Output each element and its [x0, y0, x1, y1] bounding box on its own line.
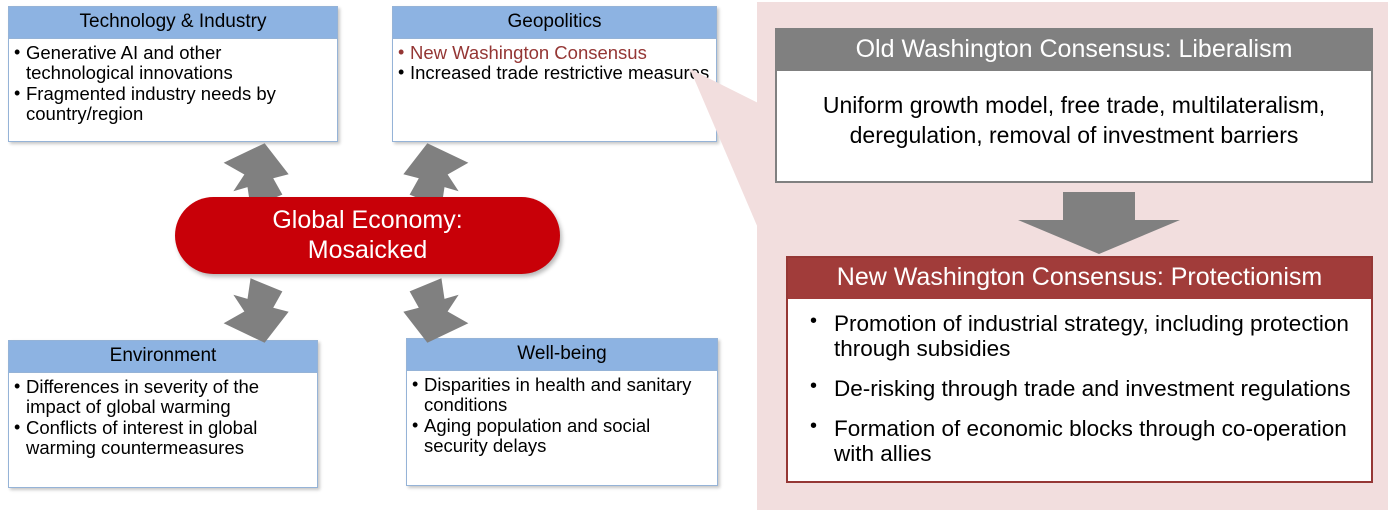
arrow-wellbeing-to-hub-icon [404, 278, 470, 344]
arrow-old-to-new-consensus-icon [1018, 192, 1180, 254]
arrow-environment-to-hub-icon [222, 278, 288, 344]
card-body-well-being: Disparities in health and sanitary condi… [407, 371, 717, 461]
bullet-item: Aging population and social security del… [411, 416, 711, 457]
bullet-list-technology-industry: Generative AI and other technological in… [13, 43, 331, 124]
body-new-washington-consensus: Promotion of industrial strategy, includ… [788, 299, 1371, 479]
bullet-item: Differences in severity of the impact of… [13, 377, 311, 418]
bullet-item: Fragmented industry needs by country/reg… [13, 84, 331, 125]
bullet-list-new-washington-consensus: Promotion of industrial strategy, includ… [804, 311, 1355, 467]
hub-global-economy[interactable]: Global Economy: Mosaicked [175, 197, 560, 274]
bullet-list-environment: Differences in severity of the impact of… [13, 377, 311, 458]
bullet-item: Formation of economic blocks through co-… [804, 416, 1355, 467]
box-old-washington-consensus[interactable]: Old Washington Consensus: Liberalism Uni… [775, 28, 1373, 183]
card-body-environment: Differences in severity of the impact of… [9, 373, 317, 463]
card-geopolitics[interactable]: Geopolitics New Washington Consensus Inc… [392, 6, 717, 142]
card-body-technology-industry: Generative AI and other technological in… [9, 39, 337, 129]
box-new-washington-consensus[interactable]: New Washington Consensus: Protectionism … [786, 256, 1373, 483]
bullet-list-geopolitics: New Washington Consensus Increased trade… [397, 43, 710, 84]
card-title-geopolitics: Geopolitics [393, 7, 716, 39]
bullet-item-highlighted: New Washington Consensus [397, 43, 710, 63]
bullet-item: Generative AI and other technological in… [13, 43, 331, 84]
bullet-list-well-being: Disparities in health and sanitary condi… [411, 375, 711, 456]
hub-line-1: Global Economy: [272, 206, 462, 236]
bullet-item: Disparities in health and sanitary condi… [411, 375, 711, 416]
title-old-washington-consensus: Old Washington Consensus: Liberalism [777, 30, 1371, 71]
bullet-item: De-risking through trade and investment … [804, 376, 1355, 402]
bullet-item: Promotion of industrial strategy, includ… [804, 311, 1355, 362]
card-technology-industry[interactable]: Technology & Industry Generative AI and … [8, 6, 338, 142]
card-body-geopolitics: New Washington Consensus Increased trade… [393, 39, 716, 89]
card-title-environment: Environment [9, 341, 317, 373]
card-well-being[interactable]: Well-being Disparities in health and san… [406, 338, 718, 486]
title-new-washington-consensus: New Washington Consensus: Protectionism [788, 258, 1371, 299]
bullet-item: Conflicts of interest in global warming … [13, 418, 311, 459]
card-title-technology-industry: Technology & Industry [9, 7, 337, 39]
hub-line-2: Mosaicked [308, 236, 428, 266]
body-old-washington-consensus: Uniform growth model, free trade, multil… [777, 71, 1371, 163]
card-environment[interactable]: Environment Differences in severity of t… [8, 340, 318, 488]
bullet-item: Increased trade restrictive measures [397, 63, 710, 83]
